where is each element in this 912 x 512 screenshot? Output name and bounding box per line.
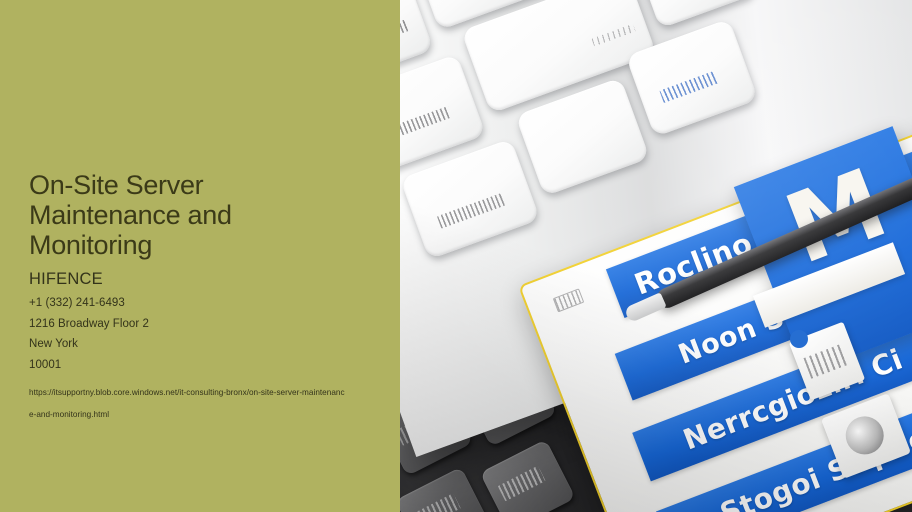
accessory-dot — [790, 330, 808, 348]
brand-name: HIFENCE — [29, 269, 359, 290]
page-title: On-Site Server Maintenance and Monitorin… — [29, 170, 299, 260]
contact-phone[interactable]: +1 (332) 241-6493 — [29, 293, 359, 314]
key-glyph-icon — [498, 466, 545, 501]
photo-stage: Roclino Tonge Noon Soolrc Nerrcgioziri C… — [400, 0, 912, 512]
white-key — [631, 0, 758, 29]
contact-postal-code: 10001 — [29, 355, 359, 376]
photo-panel: Roclino Tonge Noon Soolrc Nerrcgioziri C… — [400, 0, 912, 512]
info-content: On-Site Server Maintenance and Monitorin… — [29, 170, 359, 426]
key-glyph-icon — [592, 24, 636, 47]
key-glyph-icon — [400, 19, 410, 57]
contact-address: 1216 Broadway Floor 2 — [29, 314, 359, 335]
dial-knob-icon — [840, 411, 889, 460]
key-glyph-icon — [413, 493, 460, 512]
info-panel: On-Site Server Maintenance and Monitorin… — [0, 0, 400, 512]
key-glyph-icon — [400, 106, 452, 141]
dark-key — [480, 439, 576, 512]
contact-city: New York — [29, 334, 359, 355]
source-url-link[interactable]: https://itsupportny.blob.core.windows.ne… — [29, 382, 349, 426]
key-glyph-icon — [659, 71, 718, 103]
card-barcode-icon — [553, 288, 585, 312]
page-root: On-Site Server Maintenance and Monitorin… — [0, 0, 912, 512]
dark-key — [400, 467, 491, 512]
chip-lines-icon — [803, 344, 848, 379]
key-glyph-icon — [437, 193, 505, 228]
